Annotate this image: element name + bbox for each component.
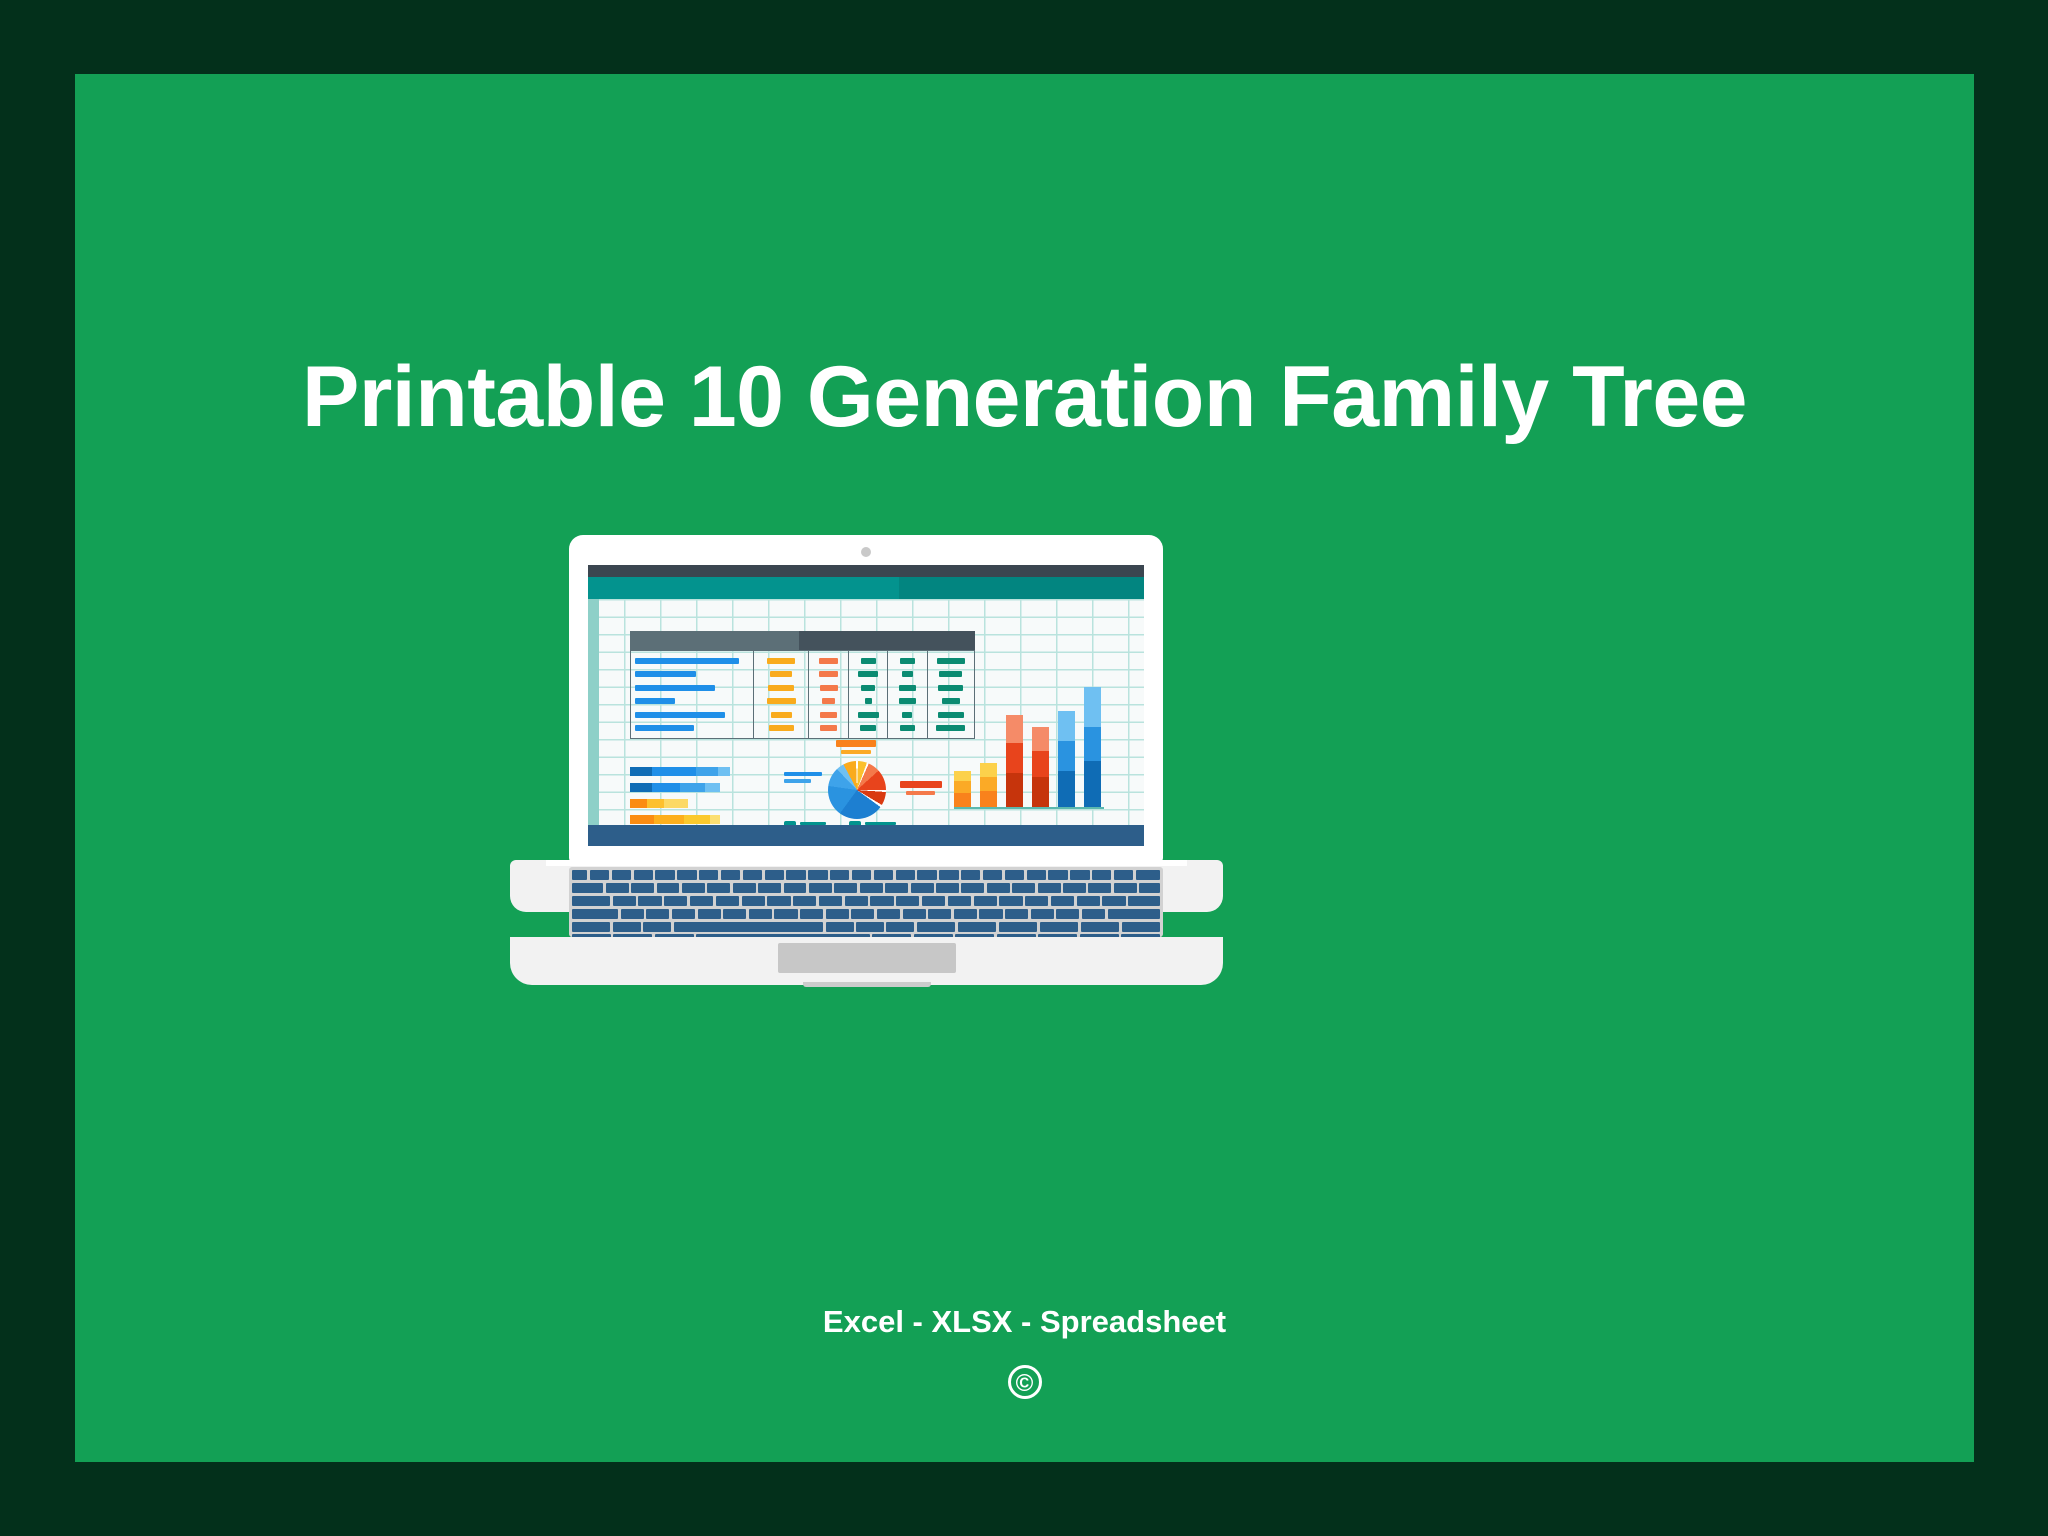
keyboard-key	[721, 870, 740, 880]
stacked-column	[1058, 711, 1075, 807]
keyboard-key	[1070, 870, 1089, 880]
keyboard-key	[896, 870, 915, 880]
keyboard-key	[834, 883, 857, 893]
stacked-bar-row	[630, 815, 780, 824]
keyboard-key	[917, 922, 955, 932]
keyboard-key	[674, 922, 824, 932]
column-segment	[1084, 687, 1101, 727]
bar-segment	[696, 767, 718, 776]
bar-segment	[652, 767, 696, 776]
app-toolbar-left	[588, 577, 899, 599]
keyboard-key	[809, 883, 832, 893]
keyboard-key	[826, 909, 849, 919]
table-cell-bar	[635, 671, 696, 677]
table-cell-bar	[635, 685, 715, 691]
table-cell-bar	[937, 658, 965, 664]
keyboard-key	[885, 883, 908, 893]
table-cell-bar	[939, 671, 962, 677]
keyboard-key	[961, 870, 980, 880]
keyboard-key	[819, 896, 842, 906]
keyboard-key	[1081, 922, 1119, 932]
keyboard-key	[826, 922, 854, 932]
bar-segment	[630, 783, 652, 792]
keyboard-key	[808, 870, 827, 880]
keyboard-key	[613, 922, 641, 932]
column-segment	[1084, 761, 1101, 807]
app-status-bar	[588, 825, 1144, 846]
bar-segment	[630, 799, 647, 808]
laptop-front-lip	[803, 982, 931, 987]
bar-segment	[630, 815, 654, 824]
keyboard-key	[682, 883, 705, 893]
keyboard-key	[830, 870, 849, 880]
keyboard-key	[765, 870, 784, 880]
laptop-lid	[569, 535, 1163, 862]
keyboard-key	[646, 909, 669, 919]
keyboard-key	[1063, 883, 1086, 893]
keyboard-key	[877, 909, 900, 919]
keyboard-key	[1114, 883, 1137, 893]
bar-segment	[664, 799, 688, 808]
table-cell-bar	[865, 698, 872, 704]
table-cell-bar	[858, 671, 878, 677]
keyboard-key	[852, 870, 871, 880]
column-segment	[1058, 741, 1075, 771]
table-cell-bar	[635, 725, 694, 731]
column-segment	[1058, 771, 1075, 807]
bar-segment	[684, 815, 710, 824]
keyboard-key	[572, 909, 618, 919]
keyboard-key	[643, 922, 671, 932]
copyright-icon: ©	[1008, 1365, 1042, 1399]
table-cell-bar	[635, 698, 675, 704]
keyboard-key	[800, 909, 823, 919]
keyboard-key	[958, 922, 996, 932]
keyboard-key	[1092, 870, 1111, 880]
keyboard-key	[845, 896, 868, 906]
column-segment	[1058, 711, 1075, 741]
stacked-bar-row	[630, 767, 780, 776]
keyboard-key	[613, 896, 636, 906]
row-header-strip	[588, 599, 599, 825]
table-cell-bar	[822, 698, 835, 704]
keyboard-key	[948, 896, 971, 906]
table-cell-bar	[768, 685, 794, 691]
table-cell-bar	[820, 685, 838, 691]
legend-orange-top	[836, 740, 876, 754]
table-cell-bar	[861, 685, 875, 691]
stacked-column	[1006, 715, 1023, 807]
table-header-right	[799, 631, 975, 650]
keyboard-key	[1088, 883, 1111, 893]
keyboard-key	[572, 896, 610, 906]
table-cell-bar	[767, 658, 795, 664]
data-table	[630, 650, 975, 739]
keyboard-key	[707, 883, 730, 893]
keyboard-key	[749, 909, 772, 919]
table-cell-bar	[635, 712, 725, 718]
keyboard-key	[983, 870, 1002, 880]
laptop-trackpad	[778, 943, 956, 973]
bar-segment	[647, 799, 664, 808]
laptop-keyboard	[569, 867, 1163, 937]
table-column	[888, 651, 927, 738]
keyboard-key	[1012, 883, 1035, 893]
column-segment	[1032, 727, 1049, 751]
keyboard-key	[870, 896, 893, 906]
keyboard-key	[1056, 909, 1079, 919]
legend-red	[900, 781, 942, 795]
keyboard-key	[672, 909, 695, 919]
keyboard-key	[677, 870, 696, 880]
keyboard-key	[896, 896, 919, 906]
table-column	[631, 651, 754, 738]
stacked-bar-row	[630, 783, 780, 792]
keyboard-row	[572, 870, 1160, 880]
column-segment	[1006, 715, 1023, 743]
keyboard-key	[928, 909, 951, 919]
column-segment	[980, 791, 997, 807]
stacked-column	[954, 771, 971, 807]
table-cell-bar	[899, 698, 916, 704]
keyboard-key	[621, 909, 644, 919]
keyboard-key	[742, 896, 765, 906]
table-column	[809, 651, 848, 738]
keyboard-key	[979, 909, 1002, 919]
bar-segment	[710, 815, 720, 824]
legend-blue	[784, 772, 822, 783]
keyboard-key	[1051, 896, 1074, 906]
keyboard-key	[590, 870, 609, 880]
keyboard-key	[999, 922, 1037, 932]
keyboard-key	[936, 883, 959, 893]
column-chart-baseline	[954, 807, 1104, 810]
column-segment	[1032, 777, 1049, 807]
keyboard-row	[572, 896, 1160, 906]
table-cell-bar	[900, 725, 915, 731]
keyboard-key	[716, 896, 739, 906]
keyboard-key	[961, 883, 984, 893]
keyboard-row	[572, 909, 1160, 919]
table-cell-bar	[819, 658, 838, 664]
keyboard-key	[1082, 909, 1105, 919]
keyboard-key	[631, 883, 654, 893]
keyboard-row	[572, 922, 1160, 932]
keyboard-key	[1040, 922, 1078, 932]
app-toolbar-right	[899, 577, 1144, 599]
keyboard-key	[638, 896, 661, 906]
keyboard-key	[784, 883, 807, 893]
table-cell-bar	[635, 658, 739, 664]
keyboard-key	[1005, 870, 1024, 880]
keyboard-key	[954, 909, 977, 919]
file-format-label: Excel - XLSX - Spreadsheet	[75, 1306, 1974, 1337]
keyboard-key	[911, 883, 934, 893]
table-cell-bar	[769, 725, 794, 731]
keyboard-key	[974, 896, 997, 906]
keyboard-key	[733, 883, 756, 893]
keyboard-key	[1139, 883, 1160, 893]
table-cell-bar	[767, 698, 796, 704]
keyboard-key	[612, 870, 631, 880]
keyboard-key	[572, 883, 603, 893]
keyboard-key	[690, 896, 713, 906]
column-segment	[1032, 751, 1049, 777]
keyboard-key	[874, 870, 893, 880]
laptop-spreadsheet-illustration	[510, 535, 1223, 912]
keyboard-key	[1136, 870, 1160, 880]
laptop-screen	[588, 565, 1144, 846]
table-cell-bar	[899, 685, 916, 691]
bar-segment	[652, 783, 680, 792]
column-segment	[980, 777, 997, 791]
keyboard-key	[939, 870, 958, 880]
keyboard-key	[1077, 896, 1100, 906]
keyboard-key	[572, 870, 587, 880]
table-cell-bar	[861, 658, 876, 664]
keyboard-key	[793, 896, 816, 906]
keyboard-key	[767, 896, 790, 906]
keyboard-key	[699, 870, 718, 880]
keyboard-key	[572, 922, 610, 932]
keyboard-key	[743, 870, 762, 880]
keyboard-key	[1031, 909, 1054, 919]
keyboard-key	[664, 896, 687, 906]
keyboard-key	[774, 909, 797, 919]
table-header-left	[630, 631, 799, 650]
table-cell-bar	[820, 712, 837, 718]
keyboard-key	[657, 883, 680, 893]
keyboard-key	[634, 870, 653, 880]
table-cell-bar	[860, 725, 876, 731]
table-cell-bar	[770, 671, 792, 677]
keyboard-key	[606, 883, 629, 893]
column-segment	[954, 781, 971, 793]
column-segment	[1006, 743, 1023, 773]
keyboard-key	[758, 883, 781, 893]
vertical-stacked-column-chart	[954, 687, 1104, 807]
keyboard-key	[1048, 870, 1067, 880]
keyboard-key	[1108, 909, 1161, 919]
laptop-hinge	[546, 860, 1187, 866]
stacked-column	[1084, 687, 1101, 807]
table-cell-bar	[858, 712, 879, 718]
keyboard-key	[786, 870, 805, 880]
keyboard-key	[922, 896, 945, 906]
keyboard-key	[856, 922, 884, 932]
keyboard-key	[917, 870, 936, 880]
bar-segment	[718, 767, 730, 776]
keyboard-key	[903, 909, 926, 919]
keyboard-row	[572, 883, 1160, 893]
keyboard-key	[1128, 896, 1160, 906]
footer: Excel - XLSX - Spreadsheet ©	[75, 1306, 1974, 1399]
keyboard-key	[886, 922, 914, 932]
column-segment	[1006, 773, 1023, 807]
keyboard-key	[1025, 896, 1048, 906]
bar-segment	[705, 783, 720, 792]
table-cell-bar	[820, 725, 837, 731]
column-segment	[980, 763, 997, 777]
stacked-column	[980, 763, 997, 807]
page-title: Printable 10 Generation Family Tree	[75, 354, 1974, 440]
table-header-row	[630, 631, 975, 650]
bar-segment	[680, 783, 705, 792]
keyboard-key	[1038, 883, 1061, 893]
column-segment	[1084, 727, 1101, 761]
stacked-bar-row	[630, 799, 780, 808]
keyboard-key	[1114, 870, 1133, 880]
column-segment	[954, 771, 971, 781]
column-segment	[954, 793, 971, 807]
app-title-bar	[588, 565, 1144, 577]
bar-segment	[654, 815, 684, 824]
keyboard-key	[655, 870, 674, 880]
keyboard-key	[999, 896, 1022, 906]
poster-inner-panel: Printable 10 Generation Family Tree	[75, 74, 1974, 1462]
table-cell-bar	[771, 712, 792, 718]
keyboard-key	[1102, 896, 1125, 906]
table-cell-bar	[900, 658, 915, 664]
pie-chart	[828, 761, 886, 819]
keyboard-key	[851, 909, 874, 919]
webcam-icon	[861, 547, 871, 557]
keyboard-key	[1122, 922, 1160, 932]
keyboard-key	[1027, 870, 1046, 880]
table-column	[754, 651, 809, 738]
bar-segment	[630, 767, 652, 776]
keyboard-key	[987, 883, 1010, 893]
table-cell-bar	[819, 671, 838, 677]
table-column	[849, 651, 888, 738]
table-cell-bar	[902, 712, 912, 718]
keyboard-key	[698, 909, 721, 919]
keyboard-key	[860, 883, 883, 893]
poster-canvas: Printable 10 Generation Family Tree	[0, 0, 2048, 1536]
keyboard-key	[1005, 909, 1028, 919]
table-cell-bar	[902, 671, 913, 677]
keyboard-key	[723, 909, 746, 919]
stacked-column	[1032, 727, 1049, 807]
